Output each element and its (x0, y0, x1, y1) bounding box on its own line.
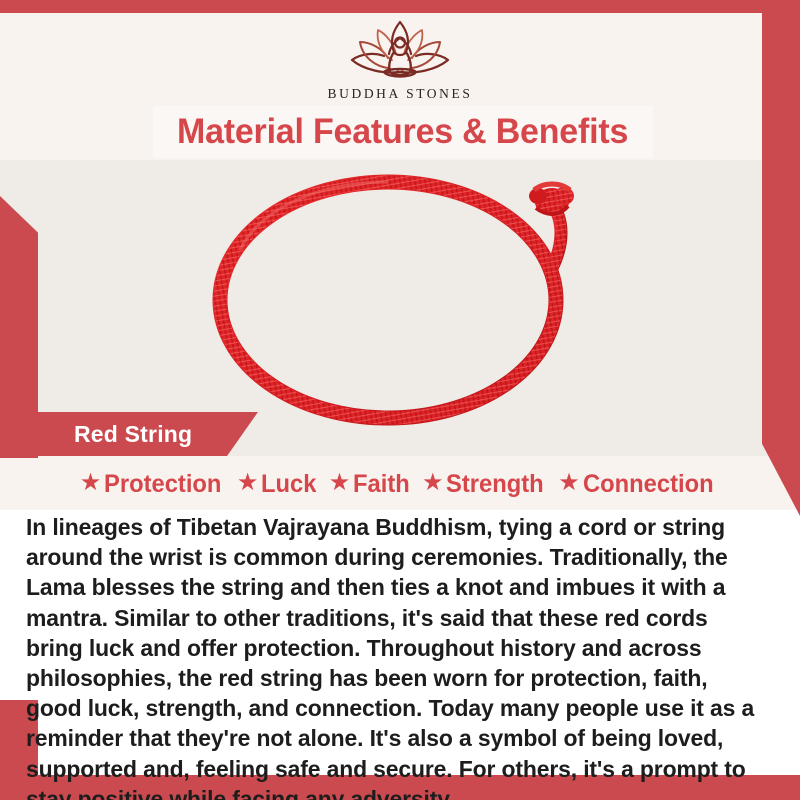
product-label: Red String (74, 421, 192, 448)
decorative-bar-top (0, 0, 800, 13)
star-icon: ★ (80, 471, 102, 495)
brand-name: BUDDHA STONES (328, 86, 473, 102)
feature-label: Luck (261, 470, 316, 499)
lotus-meditation-icon (336, 16, 464, 82)
star-icon: ★ (329, 471, 351, 495)
brand-logo: BUDDHA STONES (0, 16, 800, 102)
feature-label: Protection (104, 470, 221, 499)
features-list: ★ Protection ★ Luck ★ Faith ★ Strength ★… (0, 464, 800, 504)
feature-label: Connection (583, 470, 714, 499)
page-title: Material Features & Benefits (177, 112, 628, 152)
star-icon: ★ (558, 471, 580, 495)
feature-item-strength: ★ Strength (422, 470, 549, 499)
product-label-banner: Red String (0, 412, 258, 456)
feature-label: Strength (446, 470, 544, 499)
feature-item-protection: ★ Protection (80, 470, 228, 499)
feature-item-faith: ★ Faith (329, 470, 413, 499)
product-image (160, 160, 640, 430)
title-banner: Material Features & Benefits (153, 106, 653, 158)
infographic-page: BUDDHA STONES Material Features & Benefi… (0, 0, 800, 800)
star-icon: ★ (422, 471, 444, 495)
feature-item-connection: ★ Connection (558, 470, 720, 499)
description-paragraph: In lineages of Tibetan Vajrayana Buddhis… (26, 512, 759, 800)
star-icon: ★ (237, 471, 259, 495)
feature-item-luck: ★ Luck (237, 470, 320, 499)
feature-label: Faith (353, 470, 410, 499)
